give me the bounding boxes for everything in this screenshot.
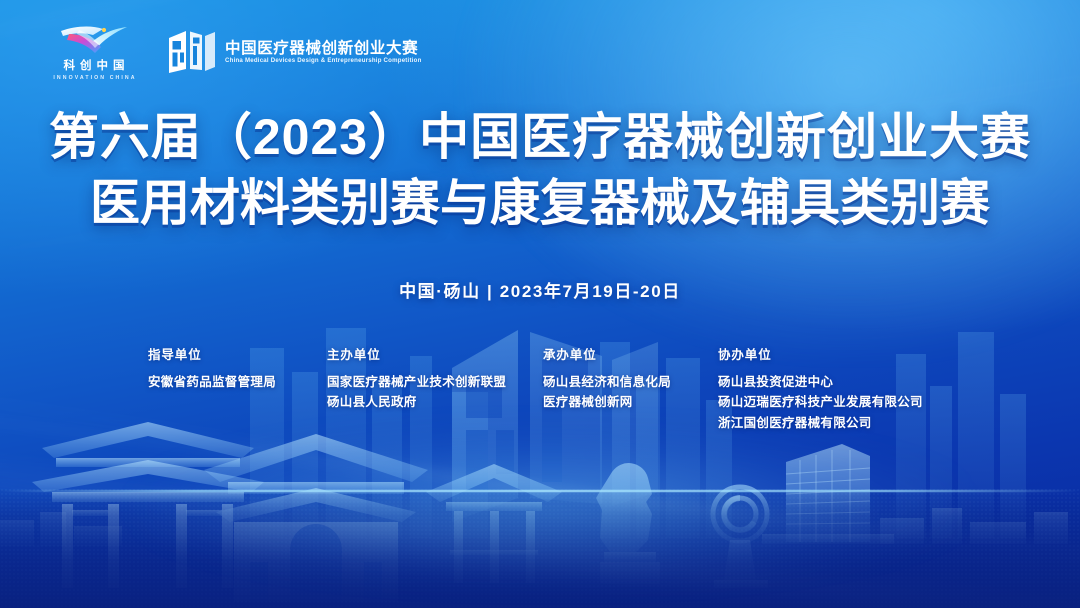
center-glow [140,430,960,580]
org-member: 国家医疗器械产业技术创新联盟 [327,372,506,392]
org-member: 砀山县经济和信息化局 [543,372,671,392]
org-role-label: 主办单位 [327,344,506,363]
competition-name-cn: 中国医疗器械创新创业大赛 [225,41,422,57]
org-role-label: 指导单位 [148,344,276,363]
event-banner: 科创中国 INNOVATION CHINA 中国医疗器械创新 [0,0,1080,608]
organizations: 指导单位 安徽省药品监督管理局 主办单位 国家医疗器械产业技术创新联盟 砀山县人… [0,344,1080,430]
event-date-location: 中国·砀山 | 2023年7月19日-20日 [0,277,1080,302]
header-logos: 科创中国 INNOVATION CHINA 中国医疗器械创新 [46,24,422,81]
innovation-china-cn: 科创中国 [59,61,130,73]
title-line-1: 第六届（2023）中国医疗器械创新创业大赛 [0,104,1080,170]
org-member: 医疗器械创新网 [543,392,671,412]
org-role-label: 协办单位 [718,344,923,363]
org-member: 砀山县人民政府 [327,392,506,412]
competition-logo[interactable]: 中国医疗器械创新创业大赛 China Medical Devices Desig… [168,29,422,75]
open-door-book-icon [168,29,216,75]
org-column-guidance: 指导单位 安徽省药品监督管理局 [148,344,276,392]
eagle-emblem-icon [57,24,131,58]
page-title: 第六届（2023）中国医疗器械创新创业大赛 医用材料类别赛与康复器械及辅具类别赛 [0,104,1080,236]
org-member: 砀山县投资促进中心 [718,372,923,392]
org-column-organizer: 承办单位 砀山县经济和信息化局 医疗器械创新网 [543,344,671,413]
org-column-co-organizer: 协办单位 砀山县投资促进中心 砀山迈瑞医疗科技产业发展有限公司 浙江国创医疗器械… [718,344,923,433]
org-member: 砀山迈瑞医疗科技产业发展有限公司 [718,392,923,412]
innovation-china-logo[interactable]: 科创中国 INNOVATION CHINA [46,24,142,81]
org-role-label: 承办单位 [543,344,671,363]
org-member: 安徽省药品监督管理局 [148,372,276,392]
competition-name-en: China Medical Devices Design & Entrepren… [225,58,422,64]
org-column-host: 主办单位 国家医疗器械产业技术创新联盟 砀山县人民政府 [327,344,506,413]
org-member: 浙江国创医疗器械有限公司 [718,413,923,433]
innovation-china-en: INNOVATION CHINA [51,76,136,81]
title-line-2: 医用材料类别赛与康复器械及辅具类别赛 [0,170,1080,236]
